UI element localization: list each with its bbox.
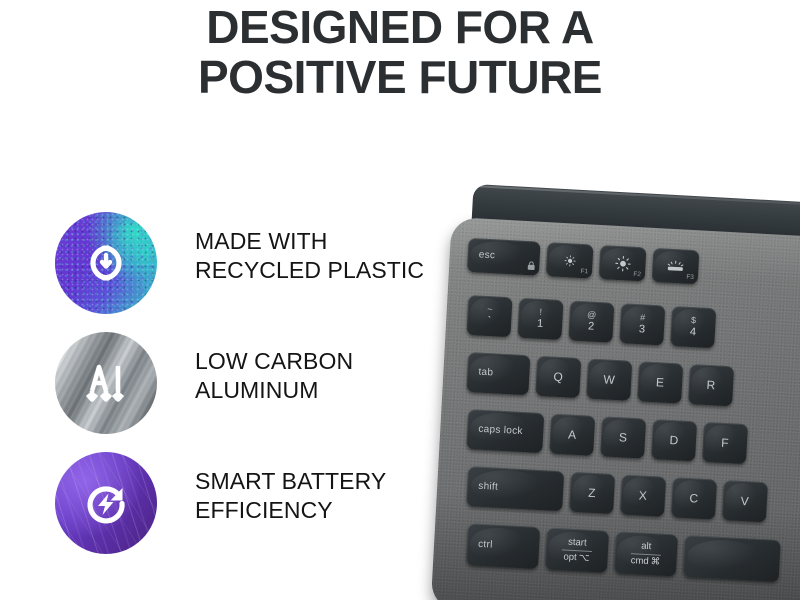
key-start-opt[interactable]: start opt ⌥ (545, 528, 609, 573)
battery-bolt-refresh-icon (55, 452, 157, 554)
headline-line-2: POSITIVE FUTURE (0, 52, 800, 102)
key-e[interactable]: E (637, 361, 683, 403)
keyboard-product-image: esc F1 (436, 176, 800, 600)
feature-label-line-1: MADE WITH (195, 227, 465, 256)
key-esc[interactable]: esc (467, 238, 541, 276)
list-item: LOW CARBON ALUMINUM (55, 332, 455, 452)
keyboard-backlight-icon (665, 259, 686, 274)
key-4[interactable]: $ 4 (670, 306, 716, 348)
brightness-down-icon (563, 254, 577, 268)
key-c[interactable]: C (671, 477, 717, 519)
key-a[interactable]: A (549, 414, 595, 456)
key-caps-lock[interactable]: caps lock (466, 409, 544, 453)
key-tab[interactable]: tab (466, 352, 530, 395)
recycle-glyph (55, 212, 157, 314)
feature-label-line-2: RECYCLED PLASTIC (195, 256, 465, 285)
feature-list: MADE WITH RECYCLED PLASTIC (55, 212, 455, 572)
key-f[interactable]: F (702, 422, 748, 464)
key-r[interactable]: R (688, 364, 734, 406)
page-title: DESIGNED FOR A POSITIVE FUTURE (0, 2, 800, 102)
key-v[interactable]: V (722, 480, 768, 522)
list-item: SMART BATTERY EFFICIENCY (55, 452, 455, 572)
key-alt-cmd[interactable]: alt cmd ⌘ (614, 531, 678, 576)
aluminum-glyph (55, 332, 157, 434)
key-x[interactable]: X (620, 475, 666, 517)
brightness-up-icon (614, 254, 632, 272)
key-d[interactable]: D (651, 419, 697, 461)
option-symbol-icon: ⌥ (578, 553, 589, 563)
key-f3-keyboard-backlight[interactable]: F3 (652, 248, 700, 284)
key-spacebar[interactable] (683, 535, 781, 582)
recycle-icon (55, 212, 157, 314)
command-symbol-icon: ⌘ (650, 557, 660, 567)
key-backtick[interactable]: ~ ` (466, 295, 512, 337)
key-s[interactable]: S (600, 416, 646, 458)
lock-icon (527, 261, 536, 273)
key-ctrl[interactable]: ctrl (466, 523, 540, 569)
key-3[interactable]: # 3 (619, 303, 665, 345)
key-shift[interactable]: shift (466, 466, 564, 511)
key-f2-brightness-up[interactable]: F2 (599, 245, 647, 281)
feature-label: MADE WITH RECYCLED PLASTIC (195, 227, 465, 285)
key-w[interactable]: W (586, 359, 632, 401)
product-feature-banner: DESIGNED FOR A POSITIVE FUTURE (0, 0, 800, 600)
key-2[interactable]: @ 2 (568, 300, 614, 342)
battery-bolt-glyph (55, 452, 157, 554)
key-z[interactable]: Z (569, 472, 615, 514)
key-1[interactable]: ! 1 (517, 298, 563, 340)
key-f1-brightness-down[interactable]: F1 (546, 242, 594, 278)
key-q[interactable]: Q (535, 356, 581, 398)
list-item: MADE WITH RECYCLED PLASTIC (55, 212, 455, 332)
aluminum-arrows-icon (55, 332, 157, 434)
headline-line-1: DESIGNED FOR A (206, 1, 593, 53)
